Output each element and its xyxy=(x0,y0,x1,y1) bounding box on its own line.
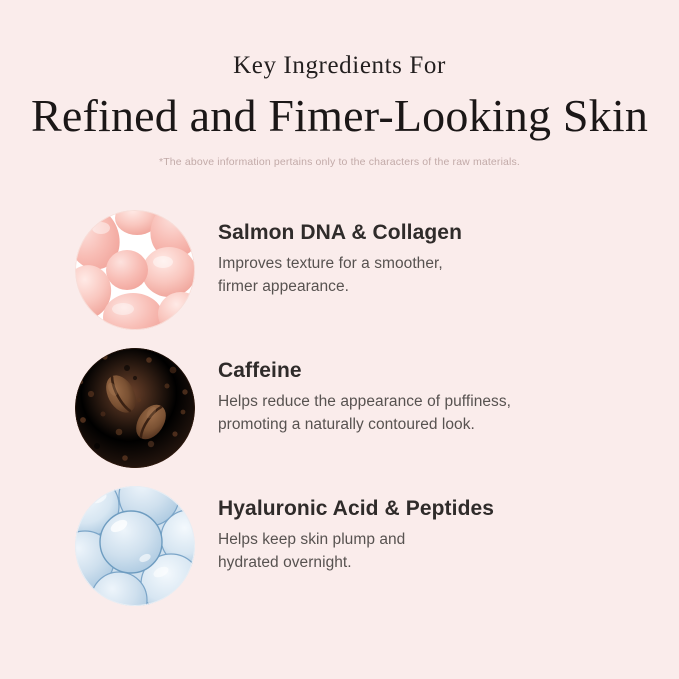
header: Key Ingredients For Refined and Fimer-Lo… xyxy=(0,0,679,168)
ingredient-description: Improves texture for a smoother, firmer … xyxy=(218,252,638,299)
ingredient-text: Hyaluronic Acid & Peptides Helps keep sk… xyxy=(218,496,638,575)
list-item: Hyaluronic Acid & Peptides Helps keep sk… xyxy=(0,482,679,618)
desc-line-2: firmer appearance. xyxy=(218,275,638,298)
desc-line-2: promoting a naturally contoured look. xyxy=(218,413,638,436)
page-title: Refined and Fimer-Looking Skin xyxy=(0,90,679,142)
blue-droplets-image xyxy=(75,486,195,606)
coffee-grounds-image xyxy=(75,348,195,468)
ingredient-title: Caffeine xyxy=(218,358,638,383)
ingredient-thumbnail-wrap xyxy=(75,210,195,330)
desc-line-1: Helps reduce the appearance of puffiness… xyxy=(218,393,511,410)
list-item: Salmon DNA & Collagen Improves texture f… xyxy=(0,206,679,342)
ingredients-infographic: Key Ingredients For Refined and Fimer-Lo… xyxy=(0,0,679,679)
ingredient-thumbnail-wrap xyxy=(75,486,195,606)
ingredient-title: Salmon DNA & Collagen xyxy=(218,220,638,245)
ingredient-text: Caffeine Helps reduce the appearance of … xyxy=(218,358,638,437)
desc-line-2: hydrated overnight. xyxy=(218,551,638,574)
ingredient-text: Salmon DNA & Collagen Improves texture f… xyxy=(218,220,638,299)
ingredient-title: Hyaluronic Acid & Peptides xyxy=(218,496,638,521)
ingredient-description: Helps reduce the appearance of puffiness… xyxy=(218,390,638,437)
eyebrow-text: Key Ingredients For xyxy=(0,52,679,80)
ingredient-list: Salmon DNA & Collagen Improves texture f… xyxy=(0,206,679,620)
disclaimer-text: *The above information pertains only to … xyxy=(0,156,679,168)
desc-line-1: Improves texture for a smoother, xyxy=(218,255,443,272)
ingredient-thumbnail-wrap xyxy=(75,348,195,468)
pink-bubbles-image xyxy=(75,210,195,330)
ingredient-description: Helps keep skin plump and hydrated overn… xyxy=(218,528,638,575)
desc-line-1: Helps keep skin plump and xyxy=(218,531,405,548)
list-item: Caffeine Helps reduce the appearance of … xyxy=(0,344,679,480)
